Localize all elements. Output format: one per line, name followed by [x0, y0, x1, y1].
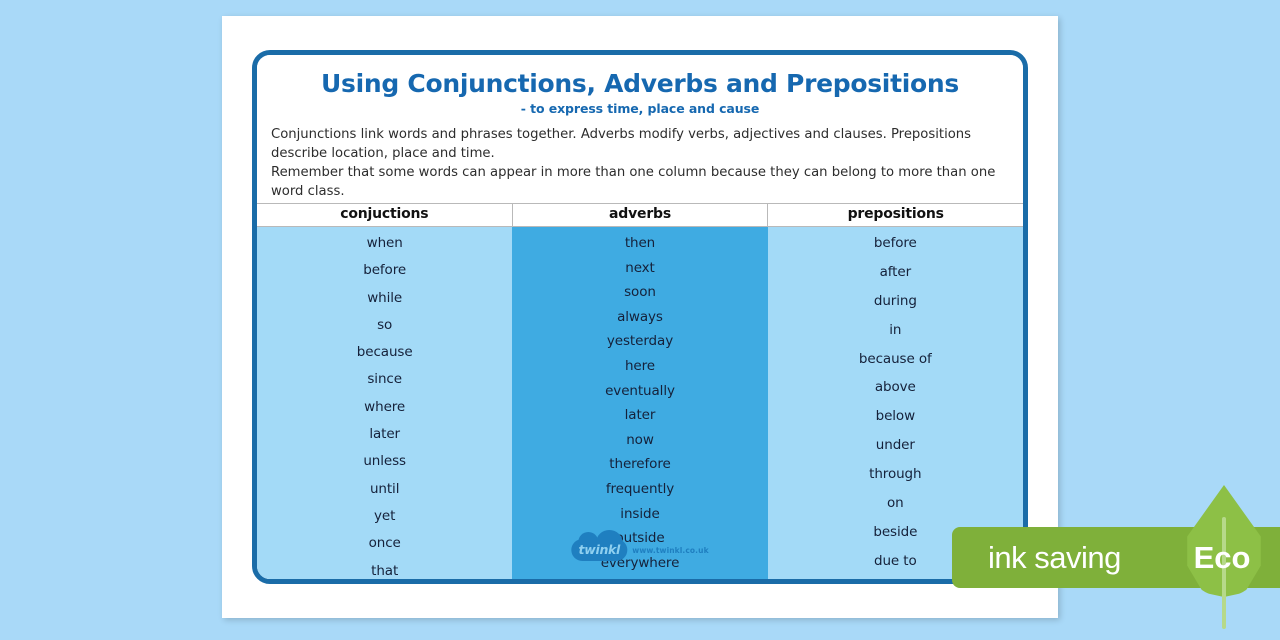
- twinkl-url: www.twinkl.co.uk: [632, 546, 708, 555]
- word-class-table: conjuctions adverbs prepositions when be…: [257, 203, 1023, 579]
- word-item: that: [371, 563, 398, 579]
- word-item: since: [367, 371, 402, 387]
- word-item: below: [876, 408, 915, 424]
- word-item: always: [617, 309, 663, 325]
- word-item: then: [625, 235, 655, 251]
- word-item: here: [625, 358, 655, 374]
- poster-frame: Using Conjunctions, Adverbs and Preposit…: [252, 50, 1028, 584]
- word-item: soon: [624, 284, 656, 300]
- word-item: later: [369, 426, 400, 442]
- page-subtitle: - to express time, place and cause: [269, 101, 1011, 116]
- word-item: after: [880, 264, 911, 280]
- word-item: with: [881, 582, 909, 584]
- word-item: where: [364, 399, 405, 415]
- column-header-prepositions: prepositions: [767, 204, 1023, 226]
- word-item: beside: [873, 524, 917, 540]
- word-item: yesterday: [607, 333, 673, 349]
- word-item: above: [875, 379, 916, 395]
- eco-label: Eco: [1168, 527, 1276, 588]
- table-body: when before while so because since where…: [257, 227, 1023, 579]
- word-item: because of: [859, 351, 932, 367]
- twinkl-logo: twinkl www.twinkl.co.uk: [571, 539, 708, 561]
- word-item: through: [869, 466, 921, 482]
- intro-text: Conjunctions link words and phrases toge…: [271, 125, 1009, 202]
- word-item: later: [625, 407, 656, 423]
- column-adverbs: then next soon always yesterday here eve…: [512, 227, 767, 579]
- word-item: on: [887, 495, 904, 511]
- page-title: Using Conjunctions, Adverbs and Preposit…: [269, 70, 1011, 98]
- word-item: until: [370, 481, 399, 497]
- poster-header: Using Conjunctions, Adverbs and Preposit…: [257, 55, 1023, 201]
- cloud-icon: twinkl: [571, 539, 627, 561]
- twinkl-logo-text: twinkl: [571, 539, 627, 561]
- word-item: now: [626, 432, 654, 448]
- column-header-conjunctions: conjuctions: [257, 204, 512, 226]
- word-item: next: [625, 260, 655, 276]
- word-item: during: [874, 293, 917, 309]
- word-item: while: [367, 290, 402, 306]
- word-item: unless: [363, 453, 406, 469]
- word-item: so: [377, 317, 392, 333]
- word-item: once: [369, 535, 401, 551]
- word-item: yet: [374, 508, 395, 524]
- word-item: because: [357, 344, 413, 360]
- word-item: when: [367, 235, 403, 251]
- word-item: frequently: [606, 481, 674, 497]
- column-header-adverbs: adverbs: [512, 204, 768, 226]
- word-item: due to: [874, 553, 917, 569]
- word-item: in: [889, 322, 901, 338]
- word-item: before: [874, 235, 917, 251]
- word-item: therefore: [609, 456, 670, 472]
- column-conjunctions: when before while so because since where…: [257, 227, 512, 579]
- word-item: eventually: [605, 383, 675, 399]
- intro-paragraph-1: Conjunctions link words and phrases toge…: [271, 125, 1009, 163]
- table-header-row: conjuctions adverbs prepositions: [257, 203, 1023, 227]
- word-item: under: [876, 437, 915, 453]
- intro-paragraph-2: Remember that some words can appear in m…: [271, 163, 1009, 201]
- word-item: before: [363, 262, 406, 278]
- word-item: inside: [620, 506, 659, 522]
- ink-saving-label: ink saving: [988, 527, 1121, 588]
